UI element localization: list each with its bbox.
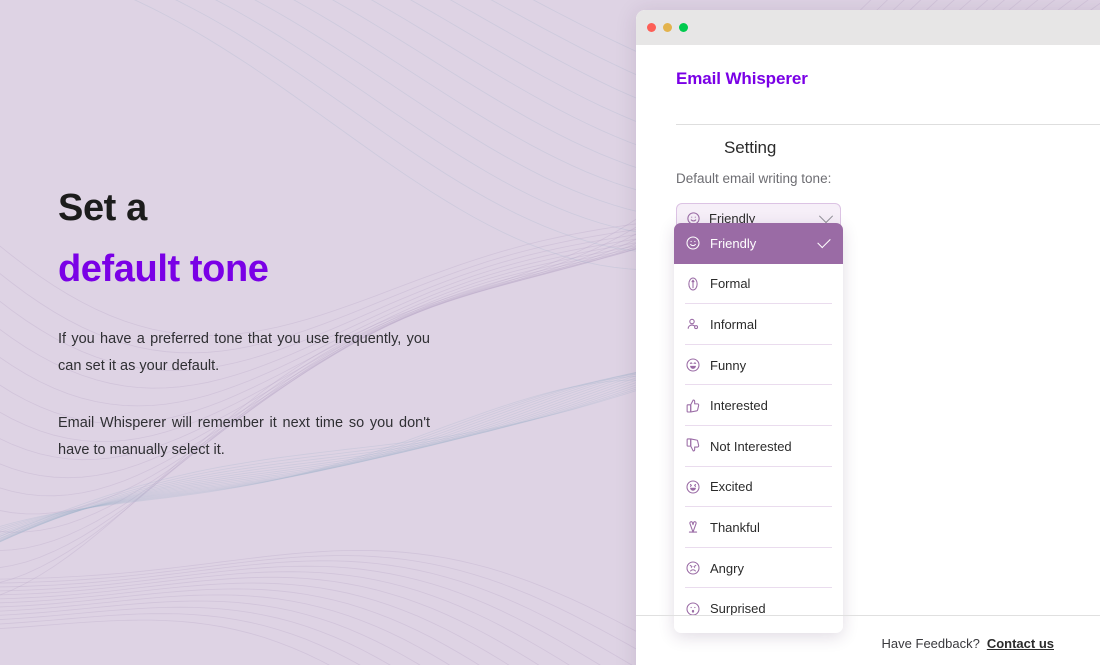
person-icon [685, 316, 701, 332]
smiley-icon [685, 235, 701, 251]
feedback-text: Have Feedback? [882, 636, 980, 651]
tone-option-label: Funny [710, 358, 832, 373]
tone-option-funny[interactable]: Funny [674, 345, 843, 386]
tone-option-friendly[interactable]: Friendly [674, 223, 843, 264]
tone-option-thankful[interactable]: Thankful [674, 507, 843, 548]
tone-option-label: Informal [710, 317, 832, 332]
check-icon [817, 235, 830, 248]
close-window-icon[interactable] [647, 23, 656, 32]
tone-option-interested[interactable]: Interested [674, 385, 843, 426]
tone-option-label: Formal [710, 276, 832, 291]
hero-paragraph-2: Email Whisperer will remember it next ti… [58, 410, 430, 464]
extension-window: Email Whisperer Setting Default email wr… [636, 10, 1100, 665]
footer-divider [636, 615, 1100, 616]
tone-option-formal[interactable]: Formal [674, 264, 843, 305]
tone-option-label: Surprised [710, 601, 832, 616]
chevron-down-icon [819, 209, 833, 223]
tone-option-not-interested[interactable]: Not Interested [674, 426, 843, 467]
angry-face-icon [685, 560, 701, 576]
hero-title-line-2: default tone [58, 247, 488, 292]
tone-option-label: Thankful [710, 520, 832, 535]
tone-field-label: Default email writing tone: [676, 171, 831, 186]
tone-option-excited[interactable]: Excited [674, 467, 843, 508]
tone-option-surprised[interactable]: Surprised [674, 588, 843, 629]
thumbs-down-icon [685, 438, 701, 454]
app-title: Email Whisperer [676, 69, 808, 89]
settings-heading: Setting [724, 138, 776, 158]
tone-option-label: Angry [710, 561, 832, 576]
window-titlebar [636, 10, 1100, 45]
tone-option-label: Not Interested [710, 439, 832, 454]
grin-icon [685, 357, 701, 373]
excited-face-icon [685, 479, 701, 495]
tone-option-label: Friendly [710, 236, 818, 251]
tone-dropdown-list[interactable]: FriendlyFormalInformalFunnyInterestedNot… [674, 223, 843, 633]
footer: Have Feedback? Contact us [882, 636, 1054, 651]
page-root: Set a default tone If you have a preferr… [0, 0, 1100, 665]
header-divider [676, 124, 1100, 125]
tone-option-label: Interested [710, 398, 832, 413]
hero-title-line-1: Set a [58, 186, 488, 231]
hero-paragraph-1: If you have a preferred tone that you us… [58, 326, 430, 380]
tone-option-label: Excited [710, 479, 832, 494]
thumbs-up-icon [685, 398, 701, 414]
necktie-icon [685, 276, 701, 292]
hero-section: Set a default tone If you have a preferr… [58, 186, 488, 464]
minimize-window-icon[interactable] [663, 23, 672, 32]
praying-hands-icon [685, 519, 701, 535]
tone-option-angry[interactable]: Angry [674, 548, 843, 589]
tone-option-informal[interactable]: Informal [674, 304, 843, 345]
contact-us-link[interactable]: Contact us [987, 636, 1054, 651]
maximize-window-icon[interactable] [679, 23, 688, 32]
